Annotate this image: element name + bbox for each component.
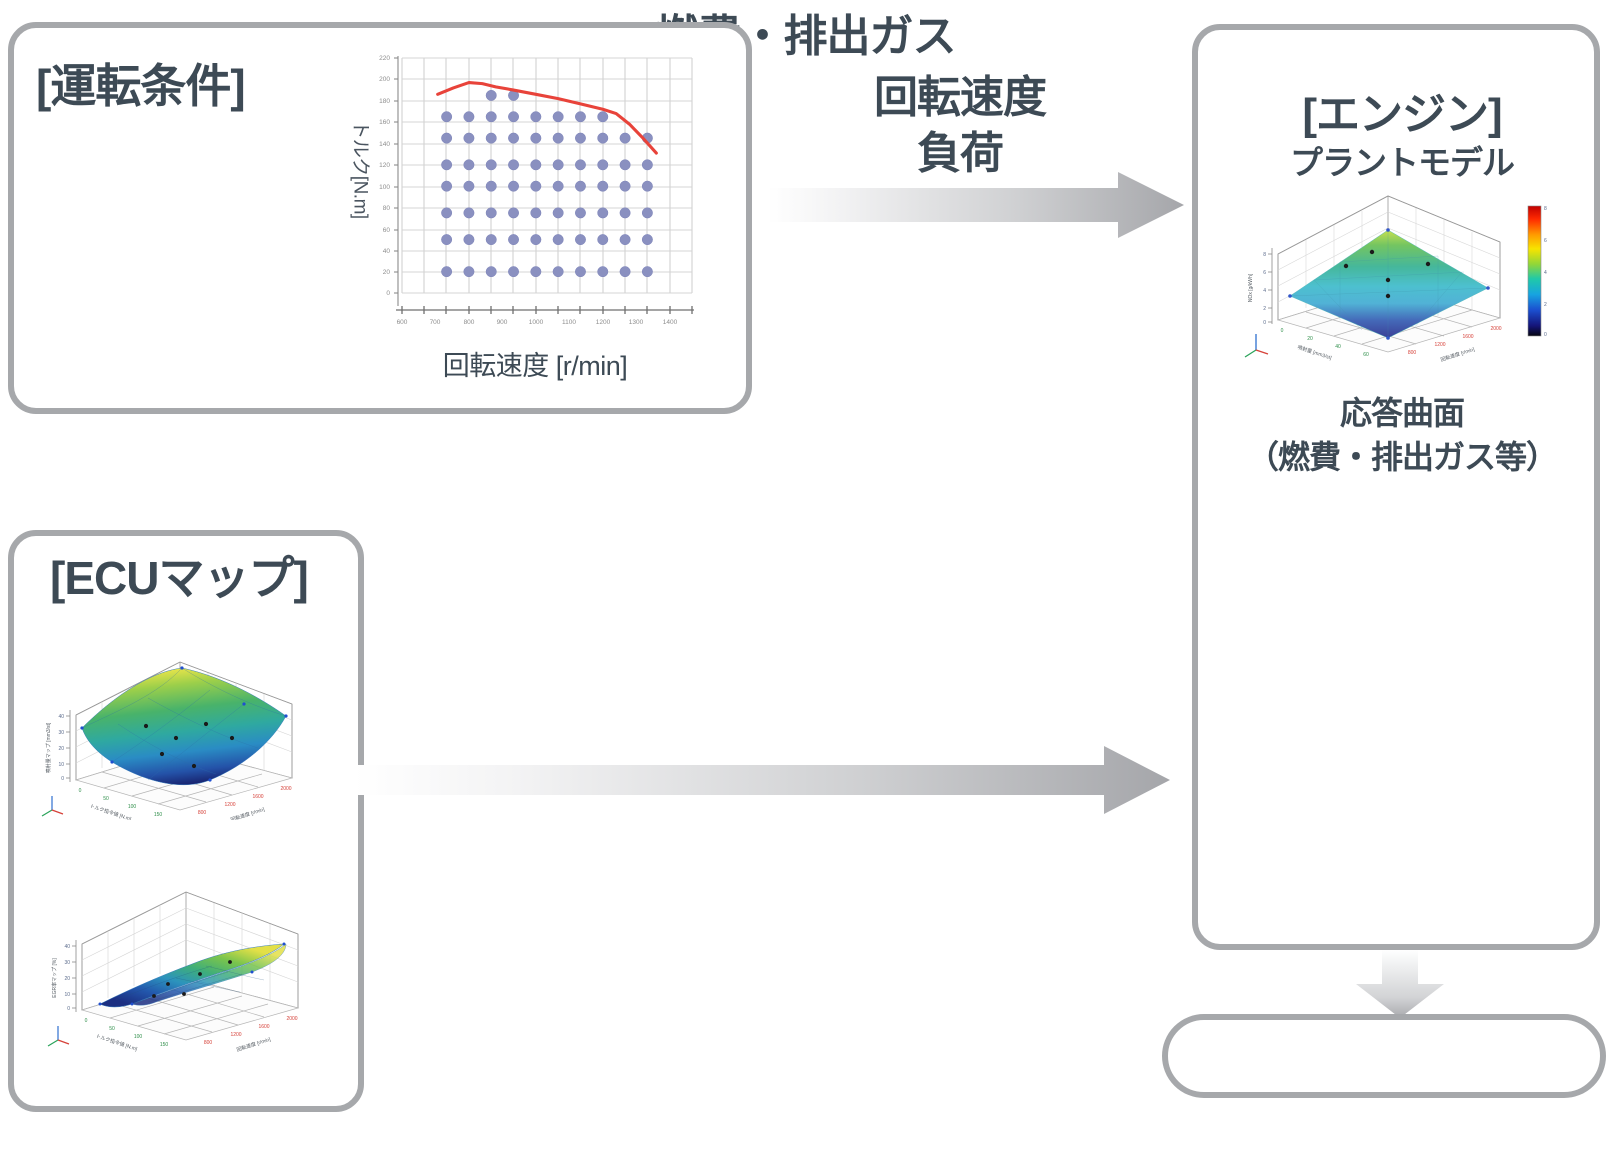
ecu-2-z-axis-label: EGR率マップ [%]: [51, 958, 58, 998]
svg-text:100: 100: [134, 1034, 143, 1040]
svg-text:30: 30: [58, 730, 64, 736]
svg-text:600: 600: [397, 319, 408, 326]
panel-ecu-title: [ECUマップ]: [50, 542, 308, 608]
svg-text:8: 8: [1544, 206, 1547, 212]
svg-text:60: 60: [383, 227, 391, 234]
svg-text:140: 140: [379, 141, 390, 148]
scatter-point: [464, 208, 474, 218]
svg-text:1000: 1000: [529, 319, 544, 326]
svg-text:1100: 1100: [562, 319, 576, 326]
svg-text:2: 2: [1263, 306, 1266, 312]
ecu-2-axis-triad: [48, 1026, 69, 1046]
svg-text:4: 4: [1544, 270, 1547, 276]
scatter-point: [642, 266, 652, 276]
svg-text:20: 20: [64, 976, 70, 982]
panel-engine-plant-model: [エンジン] プラントモデル 応答曲面 （燃費・排出ガス等）: [1192, 24, 1600, 950]
svg-text:0: 0: [79, 788, 82, 794]
scatter-point: [642, 208, 652, 218]
scatter-point: [508, 133, 518, 143]
engine-y-axis-label: 回転速度 [r/min]: [1440, 346, 1476, 364]
operating-chart-x-axis-label: 回転速度 [r/min]: [380, 344, 690, 383]
svg-text:1200: 1200: [596, 319, 611, 326]
down-arrow-icon: [1352, 950, 1448, 1020]
scatter-point: [598, 133, 608, 143]
svg-text:1200: 1200: [230, 1032, 241, 1038]
scatter-point: [598, 266, 608, 276]
panel-operating-title: [運転条件]: [36, 50, 245, 116]
svg-text:0: 0: [67, 1006, 70, 1012]
scatter-point: [441, 160, 451, 170]
scatter-point: [598, 208, 608, 218]
svg-text:8: 8: [1263, 252, 1266, 258]
scatter-point: [575, 133, 585, 143]
svg-text:20: 20: [383, 269, 391, 276]
svg-text:0: 0: [386, 290, 390, 297]
svg-text:800: 800: [1408, 350, 1417, 356]
scatter-point: [508, 208, 518, 218]
engine-axis-triad: [1245, 334, 1268, 357]
svg-text:150: 150: [154, 812, 163, 818]
svg-text:6: 6: [1263, 270, 1266, 276]
svg-text:1200: 1200: [224, 802, 235, 808]
scatter-point: [620, 234, 630, 244]
scatter-point: [531, 160, 541, 170]
svg-text:700: 700: [430, 319, 441, 326]
scatter-point: [464, 133, 474, 143]
engine-response-colorbar: 8 6 4 2 0: [1528, 206, 1547, 338]
scatter-point: [575, 181, 585, 191]
scatter-point: [531, 234, 541, 244]
operating-conditions-scatter-chart: 220 200 180 160 140 120 100 80 60 40 20 …: [330, 48, 730, 388]
scatter-point: [441, 133, 451, 143]
scatter-point: [441, 181, 451, 191]
scatter-point: [464, 266, 474, 276]
svg-text:1200: 1200: [1434, 342, 1445, 348]
scatter-point: [464, 160, 474, 170]
scatter-point: [464, 234, 474, 244]
svg-text:1600: 1600: [1462, 334, 1473, 340]
ecu-1-z-axis-label: 噴射量マップ [mm3/st]: [45, 722, 52, 773]
svg-text:20: 20: [1307, 336, 1313, 342]
ecu-1-z-axis: [66, 710, 70, 782]
scatter-point: [441, 234, 451, 244]
scatter-point: [642, 181, 652, 191]
scatter-point: [575, 266, 585, 276]
arrow-top-label-line1: 回転速度: [790, 70, 1130, 126]
svg-text:220: 220: [379, 55, 390, 62]
ecu-1-x-axis-label: トルク指令値 [N.m]: [89, 803, 133, 820]
svg-text:40: 40: [64, 944, 70, 950]
svg-text:0: 0: [1281, 328, 1284, 334]
svg-text:150: 150: [160, 1042, 169, 1048]
panel-output-result: [1162, 1014, 1606, 1098]
scatter-point: [620, 208, 630, 218]
engine-x-axis-label: 噴射量 [mm3/st]: [1296, 344, 1333, 362]
scatter-point: [486, 112, 496, 122]
scatter-point: [508, 160, 518, 170]
scatter-point: [441, 112, 451, 122]
svg-text:1300: 1300: [629, 319, 644, 326]
svg-text:1400: 1400: [663, 319, 678, 326]
right-arrow-icon-top: [766, 170, 1186, 240]
scatter-point: [553, 208, 563, 218]
scatter-point: [486, 90, 496, 100]
engine-z-axis-label: NOx [g/kWh]: [1248, 273, 1254, 302]
svg-text:40: 40: [1335, 344, 1341, 350]
ecu-2-y-axis-label: 回転速度 [r/min]: [236, 1036, 272, 1052]
scatter-point: [620, 266, 630, 276]
svg-text:2000: 2000: [286, 1016, 297, 1022]
svg-text:30: 30: [64, 960, 70, 966]
svg-text:1600: 1600: [252, 794, 263, 800]
scatter-point: [620, 160, 630, 170]
scatter-point: [598, 234, 608, 244]
svg-text:200: 200: [379, 76, 390, 83]
svg-text:120: 120: [379, 162, 390, 169]
scatter-point: [598, 181, 608, 191]
scatter-point: [531, 181, 541, 191]
ecu-1-axis-triad: [42, 796, 63, 816]
y-axis: [394, 56, 398, 306]
ecu-2-x-axis-label: トルク指令値 [N.m]: [95, 1033, 139, 1052]
arrow-top-label: 回転速度 負荷: [790, 70, 1130, 183]
svg-text:0: 0: [1544, 332, 1547, 338]
scatter-point: [508, 181, 518, 191]
svg-text:80: 80: [383, 205, 391, 212]
diagram-canvas: [運転条件]: [0, 0, 1610, 1149]
x-tick-labels: 600 700 800 900 1000 1100 1200 1300 1400: [397, 319, 678, 326]
svg-text:100: 100: [379, 184, 390, 191]
svg-text:900: 900: [497, 319, 508, 326]
scatter-point: [531, 208, 541, 218]
scatter-point: [441, 208, 451, 218]
panel-engine-title: [エンジン]: [1198, 78, 1606, 142]
svg-text:40: 40: [58, 714, 64, 720]
svg-text:800: 800: [198, 810, 207, 816]
y-tick-labels: 220 200 180 160 140 120 100 80 60 40 20 …: [379, 55, 390, 297]
x-axis: [396, 306, 694, 314]
panel-engine-caption-line1: 応答曲面: [1198, 388, 1606, 434]
scatter-point: [642, 160, 652, 170]
svg-text:2: 2: [1544, 302, 1547, 308]
svg-text:0: 0: [85, 1018, 88, 1024]
svg-text:800: 800: [204, 1040, 213, 1046]
svg-text:160: 160: [379, 119, 390, 126]
scatter-point: [464, 181, 474, 191]
svg-text:2000: 2000: [1490, 326, 1501, 332]
svg-text:2000: 2000: [280, 786, 291, 792]
scatter-point: [575, 234, 585, 244]
engine-response-surface-plot: 86 42 0 NOx [g/kWh] 020 4060 8001200 160…: [1222, 168, 1572, 368]
scatter-point: [486, 234, 496, 244]
ecu-map-surface-plot-2: 4030 2010 0 EGR率マップ [%] 050 100150 80012…: [36, 852, 326, 1052]
scatter-point: [553, 160, 563, 170]
scatter-point: [642, 234, 652, 244]
scatter-point: [441, 266, 451, 276]
svg-text:10: 10: [64, 992, 70, 998]
scatter-point: [553, 181, 563, 191]
svg-text:100: 100: [128, 804, 137, 810]
scatter-point: [486, 160, 496, 170]
scatter-plot-svg: 220 200 180 160 140 120 100 80 60 40 20 …: [330, 48, 730, 348]
scatter-point: [508, 112, 518, 122]
scatter-point: [486, 181, 496, 191]
scatter-point: [508, 234, 518, 244]
scatter-point: [620, 133, 630, 143]
scatter-point: [531, 266, 541, 276]
svg-text:6: 6: [1544, 238, 1547, 244]
svg-text:0: 0: [61, 776, 64, 782]
svg-text:0: 0: [1263, 320, 1266, 326]
svg-text:10: 10: [58, 762, 64, 768]
right-arrow-icon-bottom: [352, 742, 1172, 818]
svg-text:60: 60: [1363, 352, 1369, 358]
svg-text:50: 50: [103, 796, 109, 802]
ecu-map-surface-plot-1: 4030 2010 0 噴射量マップ [mm3/st] 050 100150 8…: [30, 620, 320, 820]
scatter-point: [553, 234, 563, 244]
scatter-point: [575, 160, 585, 170]
scatter-point: [575, 208, 585, 218]
engine-z-axis: [1268, 248, 1272, 324]
svg-text:1600: 1600: [258, 1024, 269, 1030]
svg-text:50: 50: [109, 1026, 115, 1032]
scatter-point: [620, 181, 630, 191]
scatter-point: [598, 112, 608, 122]
scatter-point: [531, 112, 541, 122]
svg-text:20: 20: [58, 746, 64, 752]
ecu-2-z-axis: [72, 940, 76, 1012]
scatter-point: [486, 266, 496, 276]
panel-engine-caption-line2: （燃費・排出ガス等）: [1198, 432, 1606, 478]
scatter-point: [508, 266, 518, 276]
svg-text:800: 800: [464, 319, 475, 326]
scatter-point: [553, 133, 563, 143]
scatter-point: [553, 266, 563, 276]
scatter-point: [486, 208, 496, 218]
scatter-point: [553, 112, 563, 122]
scatter-point: [575, 112, 585, 122]
svg-text:4: 4: [1263, 288, 1266, 294]
scatter-point: [486, 133, 496, 143]
svg-text:40: 40: [383, 248, 391, 255]
scatter-point: [598, 160, 608, 170]
scatter-point: [531, 133, 541, 143]
operating-chart-y-axis-label: トルク[N.m]: [349, 80, 376, 260]
scatter-point: [464, 112, 474, 122]
svg-text:180: 180: [379, 98, 390, 105]
